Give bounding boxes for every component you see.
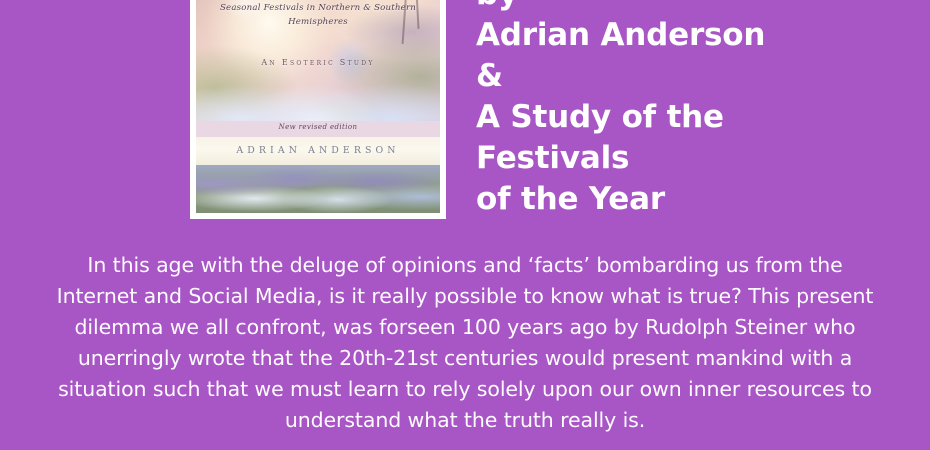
cover-title-text: Seasonal Festivals in Northern & Souther… xyxy=(196,1,440,29)
cover-edition-text: New revised edition xyxy=(196,123,440,131)
cover-author-band: ADRIAN ANDERSON xyxy=(196,137,440,165)
cover-author-text: ADRIAN ANDERSON xyxy=(236,145,399,156)
book-cover-frame: Seasonal Festivals in Northern & Souther… xyxy=(190,0,446,219)
promo-banner: Seasonal Festivals in Northern & Souther… xyxy=(0,0,930,450)
cover-subtitle-text: An Esoteric Study xyxy=(196,58,440,67)
headline-line-ampersand: & xyxy=(476,56,906,97)
headline-line-festivals: Festivals xyxy=(476,138,906,179)
headline-line-study: A Study of the xyxy=(476,97,906,138)
book-cover-image: Seasonal Festivals in Northern & Souther… xyxy=(196,0,440,213)
headline-line-author: Adrian Anderson xyxy=(476,15,906,56)
body-paragraph: In this age with the deluge of opinions … xyxy=(52,250,878,436)
headline-block: by Adrian Anderson & A Study of the Fest… xyxy=(476,0,906,220)
headline-line-of-the-year: of the Year xyxy=(476,179,906,220)
headline-line-by: by xyxy=(476,0,906,15)
cover-artwork-bottom xyxy=(196,165,440,213)
